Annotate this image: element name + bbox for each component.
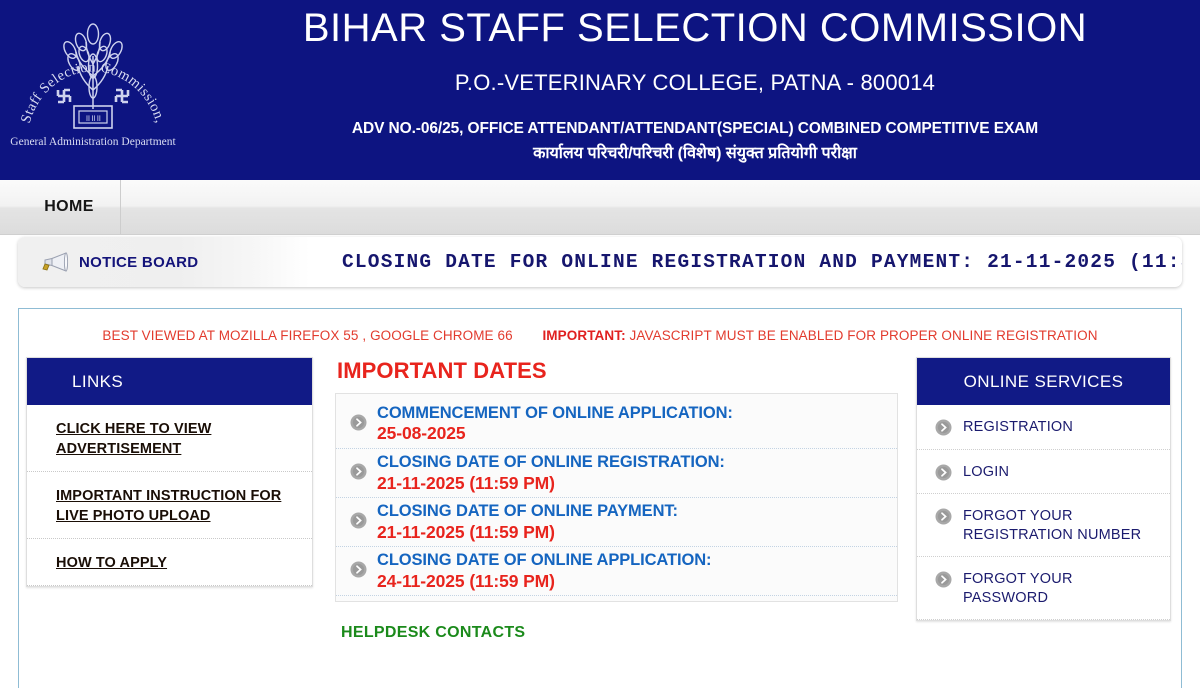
commission-logo: Bihar Staff Selection Commission, Patna: [8, 4, 178, 154]
date-value: 24-11-2025 (11:59 PM): [377, 571, 711, 592]
browser-compatibility-notice: BEST VIEWED AT MOZILLA FIREFOX 55 , GOOG…: [19, 309, 1181, 343]
notice-board-strip: NOTICE BOARD CLOSING DATE FOR ONLINE REG…: [0, 235, 1200, 291]
site-header: Bihar Staff Selection Commission, Patna: [0, 0, 1200, 180]
svg-text:॥॥॥: ॥॥॥: [85, 113, 101, 123]
list-item[interactable]: FORGOT YOUR PASSWORD: [917, 557, 1170, 620]
main-content-container: BEST VIEWED AT MOZILLA FIREFOX 55 , GOOG…: [18, 308, 1182, 688]
service-link-forgot-password[interactable]: FORGOT YOUR PASSWORD: [963, 570, 1160, 607]
list-item[interactable]: REGISTRATION: [917, 405, 1170, 450]
important-label: IMPORTANT:: [542, 328, 625, 343]
chevron-right-circle-icon: [350, 463, 367, 480]
links-panel-title: LINKS: [27, 358, 312, 405]
online-services-panel: ONLINE SERVICES REGISTRATION LOGIN: [916, 357, 1171, 621]
link-live-photo-upload-instruction[interactable]: IMPORTANT INSTRUCTION FOR LIVE PHOTO UPL…: [56, 486, 290, 526]
online-services-title: ONLINE SERVICES: [917, 358, 1170, 405]
date-label: COMMENCEMENT OF ONLINE APPLICATION:: [377, 404, 733, 423]
online-services-column: ONLINE SERVICES REGISTRATION LOGIN: [916, 357, 1174, 621]
table-row: CLOSING DATE OF ONLINE APPLICATION: 24-1…: [336, 547, 897, 596]
megaphone-icon: [40, 250, 70, 274]
important-dates-panel: COMMENCEMENT OF ONLINE APPLICATION: 25-0…: [335, 393, 898, 602]
date-value: 21-11-2025 (11:59 PM): [377, 473, 725, 494]
service-link-registration[interactable]: REGISTRATION: [963, 418, 1073, 437]
date-value: 21-11-2025 (11:59 PM): [377, 522, 678, 543]
org-title: BIHAR STAFF SELECTION COMMISSION: [190, 8, 1200, 48]
list-item[interactable]: FORGOT YOUR REGISTRATION NUMBER: [917, 494, 1170, 557]
links-panel: LINKS CLICK HERE TO VIEW ADVERTISEMENT I…: [26, 357, 313, 587]
service-link-forgot-registration-number[interactable]: FORGOT YOUR REGISTRATION NUMBER: [963, 507, 1160, 544]
date-value: 25-08-2025: [377, 423, 733, 444]
list-item[interactable]: CLICK HERE TO VIEW ADVERTISEMENT: [27, 405, 312, 472]
links-column: LINKS CLICK HERE TO VIEW ADVERTISEMENT I…: [26, 357, 313, 587]
list-item[interactable]: IMPORTANT INSTRUCTION FOR LIVE PHOTO UPL…: [27, 472, 312, 539]
advertisement-line-english: ADV NO.-06/25, OFFICE ATTENDANT/ATTENDAN…: [190, 120, 1200, 138]
notice-board-container: NOTICE BOARD CLOSING DATE FOR ONLINE REG…: [18, 237, 1182, 287]
table-row: CLOSING DATE OF ONLINE PAYMENT: 21-11-20…: [336, 498, 897, 547]
list-item[interactable]: LOGIN: [917, 450, 1170, 495]
chevron-right-circle-icon: [350, 414, 367, 431]
notice-board-label: NOTICE BOARD: [79, 254, 198, 271]
important-dates-column: IMPORTANT DATES COMMENCEMENT OF ONLINE A…: [313, 357, 898, 642]
date-entry: CLOSING DATE OF ONLINE REGISTRATION: 21-…: [377, 453, 725, 493]
content-columns: LINKS CLICK HERE TO VIEW ADVERTISEMENT I…: [19, 357, 1181, 642]
javascript-notice-text: JAVASCRIPT MUST BE ENABLED FOR PROPER ON…: [630, 328, 1098, 343]
chevron-right-circle-icon: [935, 508, 952, 525]
notice-board-label-area: NOTICE BOARD: [18, 237, 310, 287]
advertisement-line-hindi: कार्यालय परिचरी/परिचरी (विशेष) संयुक्त प…: [190, 141, 1200, 163]
service-link-login[interactable]: LOGIN: [963, 463, 1009, 482]
important-dates-title: IMPORTANT DATES: [337, 358, 898, 384]
table-row: CLOSING DATE OF ONLINE REGISTRATION: 21-…: [336, 449, 897, 498]
nav-item-home[interactable]: HOME: [18, 180, 121, 234]
list-item[interactable]: HOW TO APPLY: [27, 539, 312, 586]
tree-emblem-logo: Bihar Staff Selection Commission, Patna: [8, 4, 178, 154]
chevron-right-circle-icon: [935, 571, 952, 588]
date-label: CLOSING DATE OF ONLINE PAYMENT:: [377, 502, 678, 521]
helpdesk-contacts-title: HELPDESK CONTACTS: [341, 624, 898, 642]
logo-sub-text: General Administration Department: [10, 136, 176, 148]
notice-board-marquee: CLOSING DATE FOR ONLINE REGISTRATION AND…: [318, 237, 1182, 287]
date-entry: COMMENCEMENT OF ONLINE APPLICATION: 25-0…: [377, 404, 733, 444]
link-how-to-apply[interactable]: HOW TO APPLY: [56, 553, 167, 573]
date-entry: CLOSING DATE OF ONLINE PAYMENT: 21-11-20…: [377, 502, 678, 542]
org-address: P.O.-VETERINARY COLLEGE, PATNA - 800014: [190, 70, 1200, 96]
main-navigation-bar: HOME: [0, 180, 1200, 235]
chevron-right-circle-icon: [935, 419, 952, 436]
table-row: COMMENCEMENT OF ONLINE APPLICATION: 25-0…: [336, 400, 897, 449]
browser-notice-text: BEST VIEWED AT MOZILLA FIREFOX 55 , GOOG…: [102, 328, 512, 343]
chevron-right-circle-icon: [350, 561, 367, 578]
chevron-right-circle-icon: [350, 512, 367, 529]
header-text-block: BIHAR STAFF SELECTION COMMISSION P.O.-VE…: [190, 0, 1200, 163]
chevron-right-circle-icon: [935, 464, 952, 481]
date-entry: CLOSING DATE OF ONLINE APPLICATION: 24-1…: [377, 551, 711, 591]
date-label: CLOSING DATE OF ONLINE APPLICATION:: [377, 551, 711, 570]
link-view-advertisement[interactable]: CLICK HERE TO VIEW ADVERTISEMENT: [56, 419, 290, 459]
date-label: CLOSING DATE OF ONLINE REGISTRATION:: [377, 453, 725, 472]
